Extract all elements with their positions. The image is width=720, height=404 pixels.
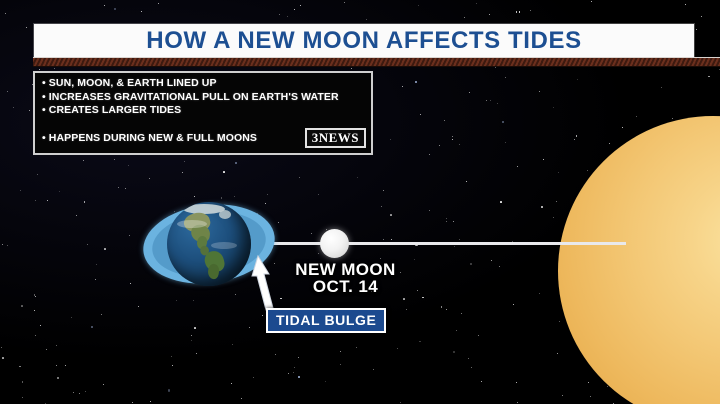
greenland — [219, 210, 231, 219]
star — [415, 81, 417, 83]
star — [158, 3, 159, 4]
star — [553, 107, 554, 108]
info-bullet: •INCREASES GRAVITATIONAL PULL ON EARTH'S… — [42, 91, 364, 105]
star — [29, 110, 30, 111]
star — [22, 381, 24, 383]
star — [444, 120, 445, 121]
star — [34, 294, 36, 296]
star — [553, 217, 554, 218]
star — [459, 144, 460, 145]
star — [499, 266, 500, 267]
info-bullet-text: SUN, MOON, & EARTH LINED UP — [49, 77, 217, 89]
star — [622, 127, 623, 128]
star — [262, 315, 263, 316]
star — [35, 200, 36, 201]
star — [562, 395, 563, 396]
star — [491, 260, 492, 261]
star — [591, 1, 592, 2]
star — [558, 172, 559, 173]
star — [194, 327, 196, 329]
bullet-marker-icon: • — [42, 132, 46, 144]
star — [73, 392, 74, 393]
star — [588, 382, 590, 384]
info-bullet: •SUN, MOON, & EARTH LINED UP — [42, 77, 364, 91]
cloud-band-upper — [177, 220, 207, 228]
star — [103, 384, 104, 385]
star — [481, 381, 482, 382]
star — [672, 118, 673, 119]
network-logo: 3NEWS — [305, 128, 366, 148]
star — [464, 17, 465, 18]
star — [176, 300, 177, 301]
star — [59, 191, 60, 192]
star — [318, 194, 319, 195]
star — [471, 367, 472, 368]
star — [35, 335, 36, 336]
star — [406, 309, 407, 310]
star — [311, 233, 312, 234]
star — [79, 393, 80, 394]
star — [400, 402, 401, 403]
star — [196, 353, 197, 354]
star — [543, 159, 544, 160]
star — [172, 365, 173, 366]
star — [576, 135, 578, 137]
star — [516, 382, 517, 383]
star — [441, 306, 443, 308]
star — [34, 310, 35, 311]
star — [223, 171, 225, 173]
star — [577, 79, 578, 80]
star — [294, 367, 295, 368]
star — [417, 290, 418, 291]
star — [128, 165, 129, 166]
star — [373, 369, 374, 370]
star — [470, 263, 472, 265]
star — [466, 181, 467, 182]
star — [539, 293, 540, 294]
star — [685, 4, 686, 5]
cloud-band-lower — [211, 242, 237, 249]
south-america-south — [207, 263, 220, 280]
star — [76, 215, 77, 216]
star — [96, 264, 97, 265]
star — [71, 317, 72, 318]
star — [184, 161, 185, 162]
star — [54, 68, 55, 69]
bullet-marker-icon: • — [42, 91, 46, 103]
star — [383, 190, 384, 191]
star — [517, 166, 518, 167]
star — [138, 306, 139, 307]
star — [468, 358, 469, 359]
star — [7, 245, 8, 246]
star — [83, 160, 84, 161]
moon — [320, 229, 349, 258]
star — [381, 206, 382, 207]
star — [298, 376, 300, 378]
star — [701, 16, 702, 17]
star — [298, 357, 299, 358]
star — [383, 239, 384, 240]
star — [461, 313, 462, 314]
star — [7, 91, 8, 92]
star — [125, 188, 126, 189]
star — [476, 3, 477, 4]
star — [454, 246, 455, 247]
bullet-marker-icon: • — [42, 104, 46, 116]
info-bullet-text: CREATES LARGER TIDES — [49, 104, 181, 116]
star — [519, 11, 521, 13]
star — [607, 386, 608, 387]
star — [193, 300, 194, 301]
star — [35, 296, 36, 297]
star — [459, 239, 460, 240]
star — [391, 239, 393, 241]
star — [2, 244, 3, 245]
info-box: •SUN, MOON, & EARTH LINED UP •INCREASES … — [33, 71, 373, 155]
star — [19, 366, 21, 368]
star — [446, 309, 447, 310]
star — [446, 218, 447, 219]
title-stripe-decoration — [33, 57, 720, 67]
star — [351, 68, 352, 69]
info-bullet: •CREATES LARGER TIDES — [42, 104, 364, 118]
star — [13, 107, 14, 108]
star — [587, 170, 588, 171]
star — [397, 348, 398, 349]
star — [56, 365, 57, 366]
star — [278, 222, 279, 223]
star — [490, 100, 491, 101]
star — [129, 235, 130, 236]
star — [40, 325, 41, 326]
star — [39, 69, 40, 70]
star — [191, 340, 192, 341]
star — [495, 67, 496, 68]
star — [613, 403, 614, 404]
star — [231, 383, 233, 385]
star — [557, 353, 558, 354]
star — [661, 87, 662, 88]
star — [517, 402, 518, 403]
star — [300, 5, 301, 6]
star — [130, 283, 132, 285]
star — [429, 154, 430, 155]
star — [5, 13, 6, 14]
star — [446, 221, 447, 222]
star — [318, 253, 319, 254]
star — [453, 221, 454, 222]
star — [356, 347, 357, 348]
earth — [167, 202, 251, 286]
star — [171, 356, 172, 357]
star — [101, 314, 102, 315]
star — [114, 8, 116, 10]
star — [2, 357, 4, 359]
star — [357, 177, 358, 178]
star — [57, 377, 59, 379]
star — [539, 91, 540, 92]
bullet-marker-icon: • — [42, 77, 46, 89]
star — [530, 10, 531, 11]
star — [149, 178, 150, 179]
star — [390, 214, 392, 216]
star — [232, 344, 233, 345]
star — [541, 206, 543, 208]
star — [241, 398, 243, 400]
star — [104, 248, 106, 250]
star — [708, 76, 710, 78]
star — [439, 145, 440, 146]
star — [505, 142, 506, 143]
star — [132, 402, 133, 403]
star — [505, 77, 506, 78]
star — [293, 372, 294, 373]
star — [489, 14, 490, 15]
star — [182, 172, 183, 173]
star — [279, 14, 280, 15]
page-title: HOW A NEW MOON AFFECTS TIDES — [146, 29, 581, 53]
star — [500, 201, 502, 203]
star — [95, 279, 96, 280]
star — [380, 258, 381, 259]
star — [340, 364, 341, 365]
star — [696, 29, 697, 30]
star — [636, 116, 637, 117]
star — [609, 143, 610, 144]
star — [118, 187, 119, 188]
star — [452, 139, 453, 140]
star — [366, 19, 367, 20]
star — [402, 86, 403, 87]
star — [418, 5, 419, 6]
info-bullet-text: HAPPENS DURING NEW & FULL MOONS — [49, 132, 257, 144]
star — [478, 335, 479, 336]
tidal-bulge-arrow-icon — [250, 252, 314, 314]
star — [253, 377, 254, 378]
star — [287, 16, 288, 17]
star — [20, 190, 21, 191]
star — [65, 365, 66, 366]
star — [502, 121, 504, 123]
star — [559, 321, 560, 322]
broadcast-graphic: NEW MOON OCT. 14 TIDAL BULGE HOW A NEW M… — [0, 0, 720, 404]
star — [104, 5, 105, 6]
star — [21, 305, 23, 307]
star — [340, 351, 341, 352]
star — [299, 177, 300, 178]
star — [390, 139, 391, 140]
star — [486, 100, 487, 101]
star — [26, 27, 27, 28]
star — [191, 335, 192, 336]
star — [414, 259, 415, 260]
star — [85, 391, 86, 392]
tidal-bulge-label: TIDAL BULGE — [266, 308, 386, 333]
star — [275, 354, 276, 355]
star — [420, 114, 421, 115]
star — [91, 326, 93, 328]
star — [590, 396, 591, 397]
star — [150, 401, 151, 402]
star — [429, 210, 430, 211]
star — [37, 174, 38, 175]
star — [56, 345, 57, 346]
star — [249, 327, 251, 329]
star — [574, 139, 575, 140]
star — [87, 244, 88, 245]
star — [325, 381, 326, 382]
star — [22, 397, 23, 398]
star — [168, 389, 170, 391]
star — [46, 349, 47, 350]
star — [556, 201, 557, 202]
star — [453, 351, 455, 353]
star — [422, 297, 424, 299]
star — [516, 11, 518, 13]
star — [47, 200, 48, 201]
star — [294, 9, 295, 10]
star — [114, 159, 115, 160]
star — [235, 294, 237, 296]
star — [452, 136, 453, 137]
star — [456, 330, 457, 331]
star — [84, 201, 86, 203]
title-bar: HOW A NEW MOON AFFECTS TIDES — [34, 24, 694, 57]
star — [513, 304, 514, 305]
star — [497, 103, 498, 104]
star — [419, 341, 421, 343]
star — [403, 298, 405, 300]
star — [288, 373, 289, 374]
star — [1, 347, 2, 348]
star — [141, 11, 142, 12]
star — [235, 162, 237, 164]
info-bullet-text: INCREASES GRAVITATIONAL PULL ON EARTH'S … — [49, 91, 339, 103]
star — [469, 92, 470, 93]
star — [344, 2, 345, 3]
